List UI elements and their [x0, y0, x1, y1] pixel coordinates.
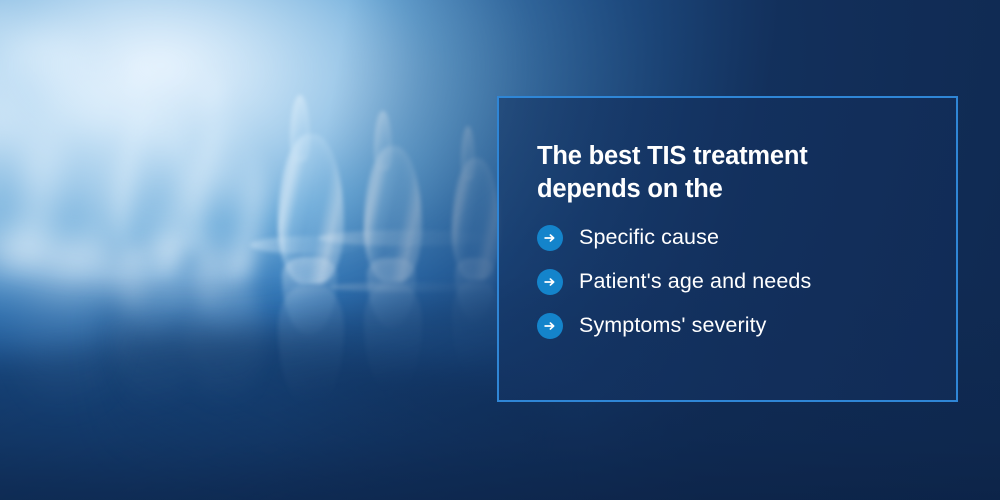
list-item: Specific cause	[537, 225, 956, 251]
list-item: Symptoms' severity	[537, 313, 956, 339]
content-panel-inner: The best TIS treatment depends on the Sp…	[499, 98, 956, 400]
list-item: Patient's age and needs	[537, 269, 956, 295]
arrow-right-circle-icon	[537, 225, 563, 251]
list-item-label: Symptoms' severity	[579, 314, 767, 338]
list-item-label: Patient's age and needs	[579, 270, 811, 294]
arrow-right-circle-icon	[537, 269, 563, 295]
infographic-banner: The best TIS treatment depends on the Sp…	[0, 0, 1000, 500]
page-title: The best TIS treatment depends on the	[537, 140, 867, 205]
list-item-label: Specific cause	[579, 226, 719, 250]
arrow-right-circle-icon	[537, 313, 563, 339]
content-panel: The best TIS treatment depends on the Sp…	[497, 96, 958, 402]
bullet-list: Specific cause Patient's age and needs	[537, 225, 956, 339]
